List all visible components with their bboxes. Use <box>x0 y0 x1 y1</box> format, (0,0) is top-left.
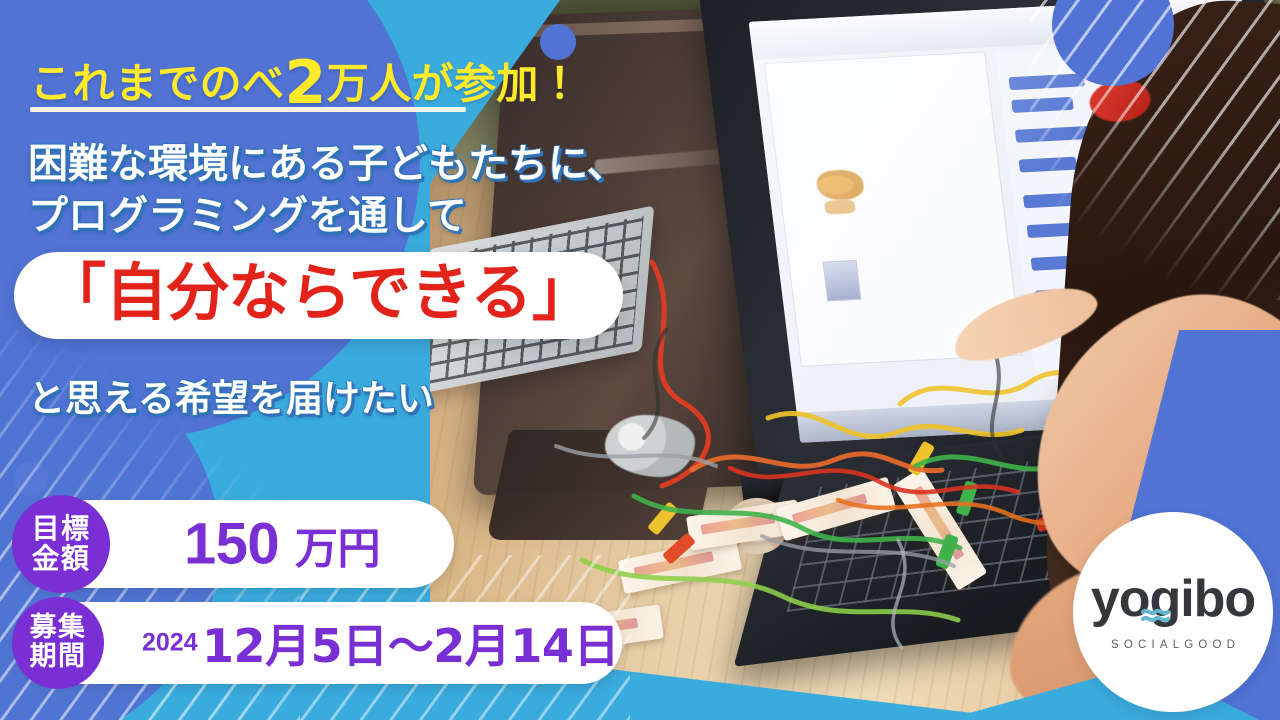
yogibo-squiggle-icon <box>1141 607 1171 623</box>
period-badge-line-2: 期間 <box>30 643 87 672</box>
period-pill: 募集 期間 2024 12月5日〜2月14日 <box>14 602 622 684</box>
diagonal-stripes-top-right <box>1030 0 1280 300</box>
goal-value-row: 150万円 <box>184 511 380 578</box>
lead-line-1: 困難な環境にある子どもたちに、 <box>28 138 627 190</box>
yogibo-tagline: SOCIALGOOD <box>1106 639 1240 651</box>
yogibo-logo: yogibo SOCIALGOOD <box>1073 512 1273 712</box>
kicker-prefix: これまでのべ <box>30 59 285 108</box>
campaign-banner: これまでのべ2万人が参加！ 困難な環境にある子どもたちに、 プログラミングを通し… <box>0 0 1280 720</box>
lead-copy: 困難な環境にある子どもたちに、 プログラミングを通して <box>28 138 627 242</box>
goal-badge-line-2: 金額 <box>32 544 91 574</box>
goal-amount-pill: 目標 金額 150万円 <box>14 500 454 588</box>
tail-copy: と思える希望を届けたい <box>28 368 434 422</box>
yogibo-wordmark-text: yogibo <box>1091 570 1255 628</box>
period-range: 12月5日〜2月14日 <box>202 610 619 676</box>
goal-badge: 目標 金額 <box>12 495 110 593</box>
kicker-suffix: 万人が参加！ <box>327 59 582 108</box>
yogibo-wordmark: yogibo <box>1091 573 1255 625</box>
quote-text: 「自分ならできる」 <box>44 256 593 329</box>
period-badge-line-1: 募集 <box>30 614 87 643</box>
period-badge: 募集 期間 <box>12 597 104 689</box>
lead-line-2: プログラミングを通して <box>28 190 627 242</box>
goal-badge-line-1: 目標 <box>32 514 91 544</box>
goal-unit: 万円 <box>295 525 380 575</box>
kicker-underline <box>30 107 466 112</box>
quote-pill: 「自分ならできる」 <box>14 252 623 339</box>
period-year: 2024 <box>142 629 198 658</box>
goal-amount: 150 <box>184 512 279 577</box>
